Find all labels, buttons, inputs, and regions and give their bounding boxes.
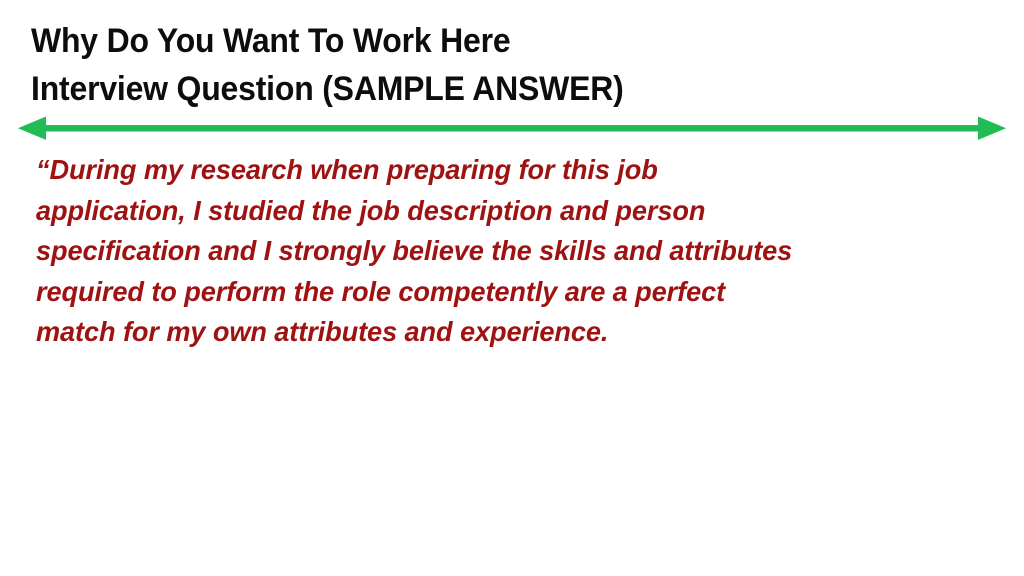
divider (12, 110, 1012, 146)
quote-line-2: application, I studied the job descripti… (36, 191, 987, 232)
title-line-2: Interview Question (SAMPLE ANSWER) (31, 65, 933, 113)
quote-line-1: “During my research when preparing for t… (36, 150, 987, 191)
sample-answer-quote: “During my research when preparing for t… (36, 150, 1016, 353)
page-title: Why Do You Want To Work Here Interview Q… (31, 17, 991, 113)
quote-line-5: match for my own attributes and experien… (36, 312, 987, 353)
slide-canvas: Why Do You Want To Work Here Interview Q… (0, 0, 1024, 576)
title-line-1: Why Do You Want To Work Here (31, 17, 933, 65)
empty-content-area (0, 360, 1024, 576)
double-headed-arrow-icon (12, 110, 1012, 146)
quote-line-4: required to perform the role competently… (36, 272, 987, 313)
quote-line-3: specification and I strongly believe the… (36, 231, 987, 272)
